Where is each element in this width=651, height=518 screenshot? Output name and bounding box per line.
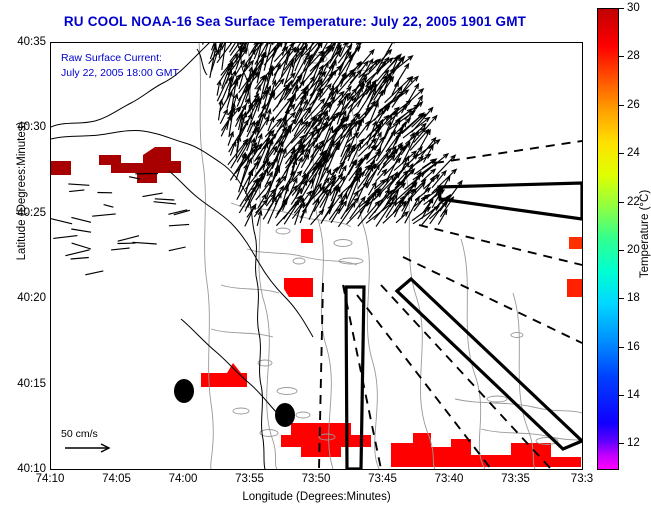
colorbar-tick bbox=[619, 153, 624, 154]
annotation-line-1: Raw Surface Current: bbox=[61, 52, 162, 64]
radial-line-1 bbox=[435, 141, 582, 163]
x-tick-label: 73:40 bbox=[435, 473, 464, 485]
velocity-scale-label: 50 cm/s bbox=[61, 428, 98, 440]
current-vector bbox=[169, 224, 189, 225]
current-vector bbox=[104, 205, 114, 208]
colorbar-tick-label: 20 bbox=[627, 244, 640, 256]
sst-patch-east-edge-upper bbox=[569, 237, 582, 249]
y-tick-label: 40:10 bbox=[17, 463, 46, 475]
station-marker bbox=[275, 403, 295, 427]
x-axis-title: Longitude (Degrees:Minutes) bbox=[50, 491, 583, 503]
current-vector bbox=[71, 258, 89, 260]
sst-patch-left-edge bbox=[51, 161, 71, 175]
current-vector bbox=[169, 247, 186, 251]
colorbar-tick-label: 12 bbox=[627, 437, 640, 449]
x-tick-label: 74:00 bbox=[169, 473, 198, 485]
colorbar-tick bbox=[619, 202, 624, 203]
current-vector bbox=[69, 190, 84, 192]
sst-patch-upper-left bbox=[99, 147, 181, 183]
x-tick-label: 74:05 bbox=[102, 473, 131, 485]
map-plot-area[interactable]: Raw Surface Current: July 22, 2005 18:00… bbox=[50, 42, 583, 470]
colorbar-tick-label: 14 bbox=[627, 389, 640, 401]
colorbar-tick-label: 18 bbox=[627, 292, 640, 304]
current-vector bbox=[85, 271, 103, 275]
current-vector bbox=[53, 236, 77, 239]
current-vector bbox=[51, 218, 72, 224]
sst-patch-mid-shelf bbox=[284, 278, 313, 297]
y-tick-label: 40:30 bbox=[17, 121, 46, 133]
coastline-layer bbox=[51, 43, 313, 469]
map-canvas bbox=[51, 43, 582, 469]
current-vector bbox=[68, 184, 89, 185]
current-vector bbox=[143, 193, 163, 197]
current-vector bbox=[72, 243, 91, 249]
current-vector bbox=[245, 43, 254, 46]
current-vector bbox=[220, 110, 227, 124]
sst-patch-southern-band-2 bbox=[391, 433, 511, 467]
y-tick-label: 40:15 bbox=[17, 378, 46, 390]
sst-map-figure: RU COOL NOAA-16 Sea Surface Temperature:… bbox=[0, 0, 651, 518]
current-vector bbox=[376, 195, 397, 227]
colorbar-tick bbox=[619, 250, 624, 251]
colorbar-tick bbox=[619, 105, 624, 106]
colorbar-tick-label: 22 bbox=[627, 196, 640, 208]
x-tick-label: 73:45 bbox=[368, 473, 397, 485]
current-vector bbox=[71, 229, 91, 232]
colorbar-tick bbox=[619, 347, 624, 348]
colorbar-title: Temperature (°C) bbox=[639, 154, 651, 314]
y-tick-label: 40:25 bbox=[17, 207, 46, 219]
colorbar-tick bbox=[619, 8, 624, 9]
radial-dashed-layer bbox=[319, 141, 582, 469]
current-vector bbox=[65, 250, 89, 256]
current-vector bbox=[92, 214, 116, 216]
x-tick-label: 73:50 bbox=[302, 473, 331, 485]
colorbar-tick bbox=[619, 443, 624, 444]
current-vector bbox=[154, 202, 177, 204]
y-tick-label: 40:20 bbox=[17, 292, 46, 304]
sst-patch-east-edge-lower bbox=[567, 279, 582, 297]
radial-line-2 bbox=[419, 225, 582, 265]
x-tick-label: 73:55 bbox=[235, 473, 264, 485]
current-vector bbox=[254, 190, 274, 217]
y-tick-label: 40:35 bbox=[17, 36, 46, 48]
sst-patch-mid-shelf-small bbox=[301, 229, 313, 243]
figure-title: RU COOL NOAA-16 Sea Surface Temperature:… bbox=[0, 14, 590, 29]
current-vector bbox=[132, 242, 156, 244]
colorbar-tick bbox=[619, 395, 624, 396]
colorbar-tick-label: 30 bbox=[627, 2, 640, 14]
survey-box-north bbox=[439, 183, 582, 219]
colorbar-tick bbox=[619, 298, 624, 299]
y-axis-title: Latitude (Degrees:Minutes) bbox=[16, 81, 28, 301]
current-vector bbox=[377, 43, 395, 71]
colorbar-tick-label: 28 bbox=[627, 50, 640, 62]
x-tick-label: 73:35 bbox=[501, 473, 530, 485]
current-vector bbox=[118, 236, 139, 242]
current-vector bbox=[111, 248, 130, 250]
current-vector bbox=[71, 217, 91, 222]
current-vector bbox=[438, 210, 446, 225]
station-marker bbox=[174, 379, 194, 403]
current-vector bbox=[155, 199, 175, 200]
x-tick-label: 73:3 bbox=[571, 473, 593, 485]
colorbar bbox=[597, 8, 619, 470]
annotation-line-2: July 22, 2005 18:00 GMT bbox=[61, 67, 179, 79]
colorbar-tick-label: 24 bbox=[627, 147, 640, 159]
velocity-scale-arrow bbox=[65, 444, 109, 452]
radial-line-3 bbox=[403, 257, 582, 343]
colorbar-tick-label: 16 bbox=[627, 341, 640, 353]
colorbar-tick-label: 26 bbox=[627, 99, 640, 111]
colorbar-tick bbox=[619, 56, 624, 57]
